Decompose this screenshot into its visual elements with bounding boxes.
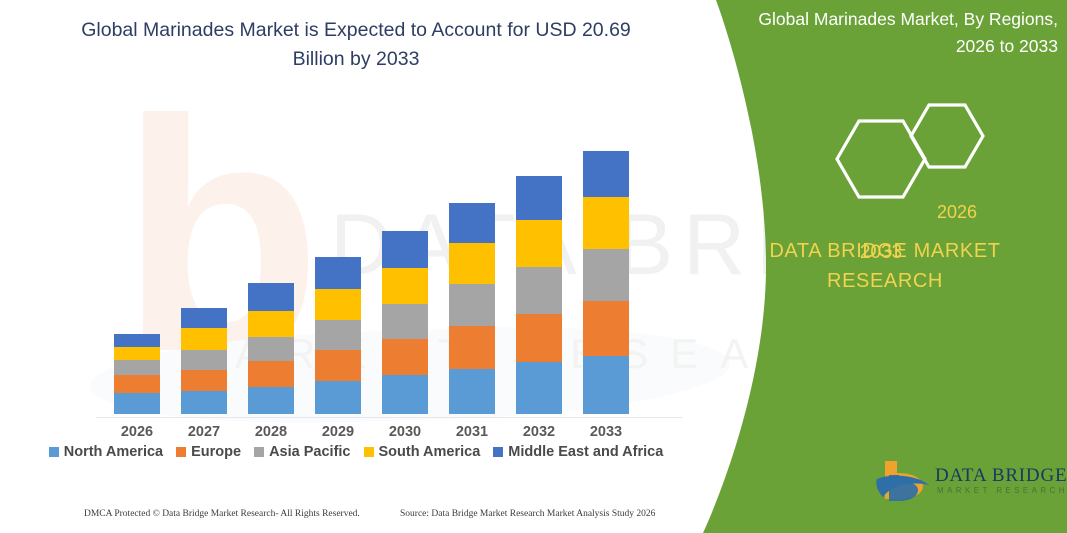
bar-segment-south-america[interactable] xyxy=(181,328,227,350)
legend-item-middle-east-and-africa[interactable]: Middle East and Africa xyxy=(493,444,663,460)
bar-segment-asia-pacific[interactable] xyxy=(114,360,160,375)
legend-swatch-icon xyxy=(364,447,374,457)
bar-group-2029[interactable] xyxy=(315,257,361,414)
x-axis-label-2031: 2031 xyxy=(442,424,502,440)
bar-segment-europe[interactable] xyxy=(516,314,562,362)
dbmr-logo-mark xyxy=(873,455,935,505)
legend-swatch-icon xyxy=(254,447,264,457)
bar-segment-europe[interactable] xyxy=(181,370,227,391)
footer-source-text: Source: Data Bridge Market Research Mark… xyxy=(400,509,655,519)
bar-segment-europe[interactable] xyxy=(583,301,629,356)
x-axis-label-2032: 2032 xyxy=(509,424,569,440)
bar-segment-north-america[interactable] xyxy=(181,391,227,414)
bar-segment-middle-east-and-africa[interactable] xyxy=(315,257,361,289)
bar-group-2026[interactable] xyxy=(114,334,160,414)
legend-item-south-america[interactable]: South America xyxy=(364,444,481,460)
panel-title: Global Marinades Market, By Regions, 202… xyxy=(740,6,1058,60)
legend-swatch-icon xyxy=(176,447,186,457)
x-axis-label-2033: 2033 xyxy=(576,424,636,440)
green-panel-content: Global Marinades Market, By Regions, 202… xyxy=(700,0,1067,533)
bar-group-2031[interactable] xyxy=(449,203,495,414)
legend-label: South America xyxy=(379,444,481,460)
hexagon-group: 2033 2026 xyxy=(815,92,1015,212)
bar-segment-north-america[interactable] xyxy=(449,369,495,414)
bar-segment-europe[interactable] xyxy=(315,350,361,381)
footer-dmca-text: DMCA Protected © Data Bridge Market Rese… xyxy=(84,509,360,519)
x-axis-line xyxy=(96,417,682,418)
bar-segment-south-america[interactable] xyxy=(248,311,294,337)
bar-segment-south-america[interactable] xyxy=(449,243,495,284)
dbmr-logo: DATA BRIDGE MARKET RESEARCH xyxy=(873,455,1058,513)
footer: DMCA Protected © Data Bridge Market Rese… xyxy=(0,505,712,527)
bar-segment-south-america[interactable] xyxy=(114,347,160,360)
legend-item-asia-pacific[interactable]: Asia Pacific xyxy=(254,444,350,460)
bar-segment-middle-east-and-africa[interactable] xyxy=(583,151,629,197)
brand-text: DATA BRIDGE MARKET RESEARCH xyxy=(720,236,1050,296)
dbmr-logo-subtitle: MARKET RESEARCH xyxy=(937,486,1067,495)
bar-segment-asia-pacific[interactable] xyxy=(315,320,361,350)
bar-segment-north-america[interactable] xyxy=(516,362,562,414)
bar-segment-europe[interactable] xyxy=(114,375,160,393)
bar-group-2032[interactable] xyxy=(516,176,562,414)
bar-segment-asia-pacific[interactable] xyxy=(248,337,294,361)
chart-legend: North AmericaEuropeAsia PacificSouth Ame… xyxy=(0,444,712,460)
bar-segment-north-america[interactable] xyxy=(382,375,428,414)
legend-item-north-america[interactable]: North America xyxy=(49,444,163,460)
brand-line-1: DATA BRIDGE MARKET xyxy=(720,236,1050,266)
bar-segment-north-america[interactable] xyxy=(248,387,294,414)
bar-segment-europe[interactable] xyxy=(449,326,495,369)
bar-segment-south-america[interactable] xyxy=(516,220,562,267)
bar-group-2030[interactable] xyxy=(382,231,428,414)
bar-segment-middle-east-and-africa[interactable] xyxy=(449,203,495,243)
bar-segment-asia-pacific[interactable] xyxy=(382,304,428,339)
brand-line-2: RESEARCH xyxy=(720,266,1050,296)
dbmr-logo-name: DATA BRIDGE xyxy=(935,465,1067,487)
x-axis-label-2026: 2026 xyxy=(107,424,167,440)
bar-group-2027[interactable] xyxy=(181,308,227,414)
bar-segment-middle-east-and-africa[interactable] xyxy=(382,231,428,268)
bar-segment-middle-east-and-africa[interactable] xyxy=(181,308,227,328)
x-axis-labels: 20262027202820292030203120322033 xyxy=(96,424,686,444)
page-title: Global Marinades Market is Expected to A… xyxy=(56,16,656,74)
x-axis-label-2029: 2029 xyxy=(308,424,368,440)
x-axis-label-2027: 2027 xyxy=(174,424,234,440)
x-axis-label-2030: 2030 xyxy=(375,424,435,440)
bar-segment-north-america[interactable] xyxy=(114,393,160,414)
bar-segment-south-america[interactable] xyxy=(583,197,629,249)
legend-label: Asia Pacific xyxy=(269,444,350,460)
legend-label: North America xyxy=(64,444,163,460)
bar-segment-asia-pacific[interactable] xyxy=(181,350,227,370)
bar-group-2028[interactable] xyxy=(248,283,294,414)
bar-segment-europe[interactable] xyxy=(248,361,294,387)
bar-segment-south-america[interactable] xyxy=(382,268,428,304)
bar-segment-europe[interactable] xyxy=(382,339,428,375)
bar-segment-asia-pacific[interactable] xyxy=(449,284,495,326)
x-axis-label-2028: 2028 xyxy=(241,424,301,440)
hexagon-2026 xyxy=(911,105,983,167)
legend-swatch-icon xyxy=(493,447,503,457)
plot-area xyxy=(96,90,686,418)
bar-segment-asia-pacific[interactable] xyxy=(516,267,562,314)
hexagon-2026-label: 2026 xyxy=(915,202,999,223)
bar-segment-south-america[interactable] xyxy=(315,289,361,320)
bar-group-2033[interactable] xyxy=(583,151,629,414)
chart-panel: Global Marinades Market is Expected to A… xyxy=(0,0,712,533)
legend-swatch-icon xyxy=(49,447,59,457)
bar-segment-north-america[interactable] xyxy=(583,356,629,414)
bar-segment-middle-east-and-africa[interactable] xyxy=(516,176,562,220)
bar-segment-north-america[interactable] xyxy=(315,381,361,414)
bar-segment-middle-east-and-africa[interactable] xyxy=(114,334,160,347)
legend-label: Europe xyxy=(191,444,241,460)
legend-item-europe[interactable]: Europe xyxy=(176,444,241,460)
bar-segment-middle-east-and-africa[interactable] xyxy=(248,283,294,311)
bar-segment-asia-pacific[interactable] xyxy=(583,249,629,301)
legend-label: Middle East and Africa xyxy=(508,444,663,460)
